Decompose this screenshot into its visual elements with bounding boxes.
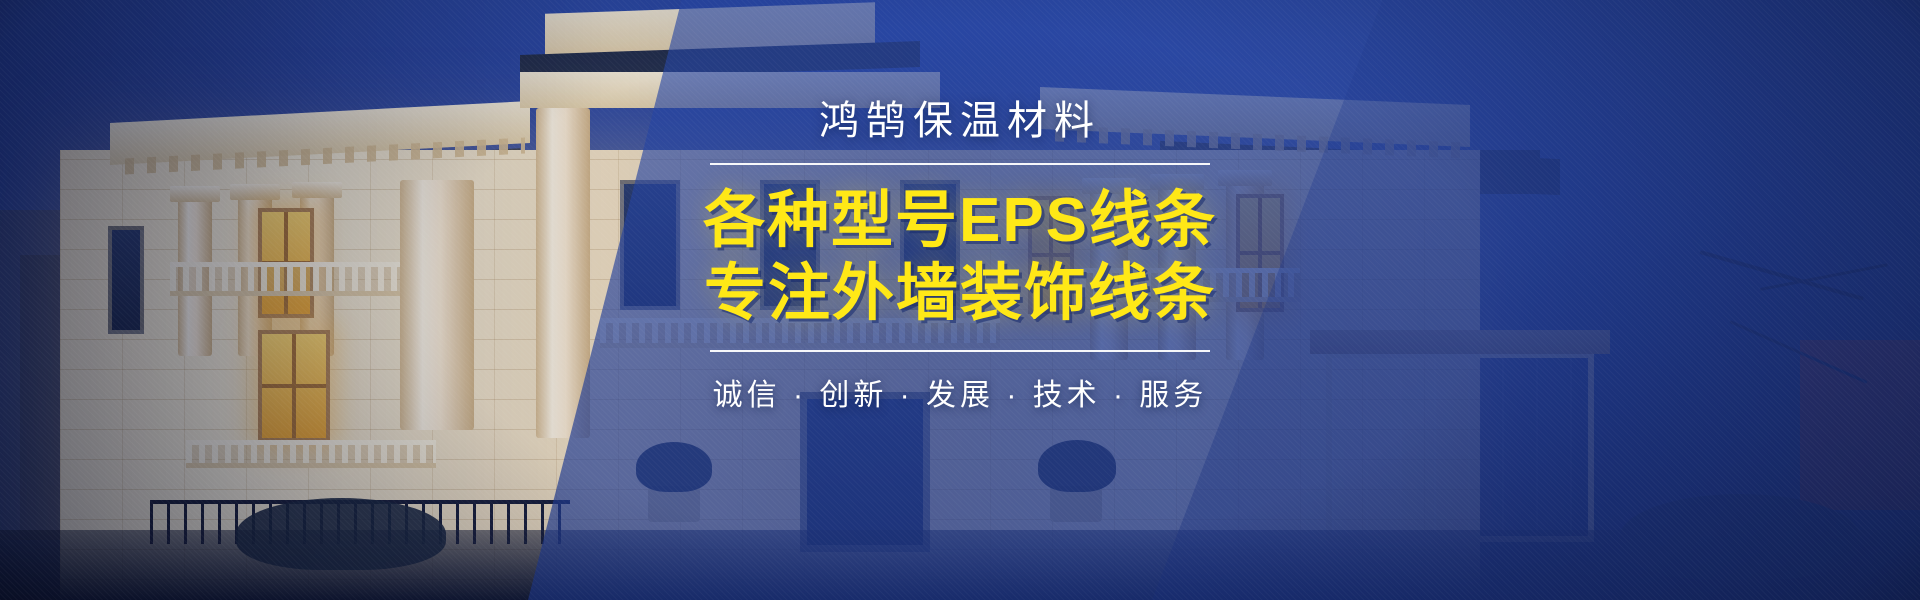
divider-bottom xyxy=(710,350,1210,352)
divider-top xyxy=(710,163,1210,165)
brand-name: 鸿鹄保温材料 xyxy=(0,96,1920,146)
tagline: 诚信 · 创新 · 发展 · 技术 · 服务 xyxy=(0,370,1920,414)
headline-line-2: 专注外墙装饰线条 xyxy=(0,258,1920,331)
hero-banner: 鸿鹄保温材料 各种型号EPS线条 专注外墙装饰线条 诚信 · 创新 · 发展 ·… xyxy=(0,0,1920,600)
headline-line-1: 各种型号EPS线条 xyxy=(703,186,1217,255)
headline: 各种型号EPS线条 专注外墙装饰线条 xyxy=(0,185,1920,330)
